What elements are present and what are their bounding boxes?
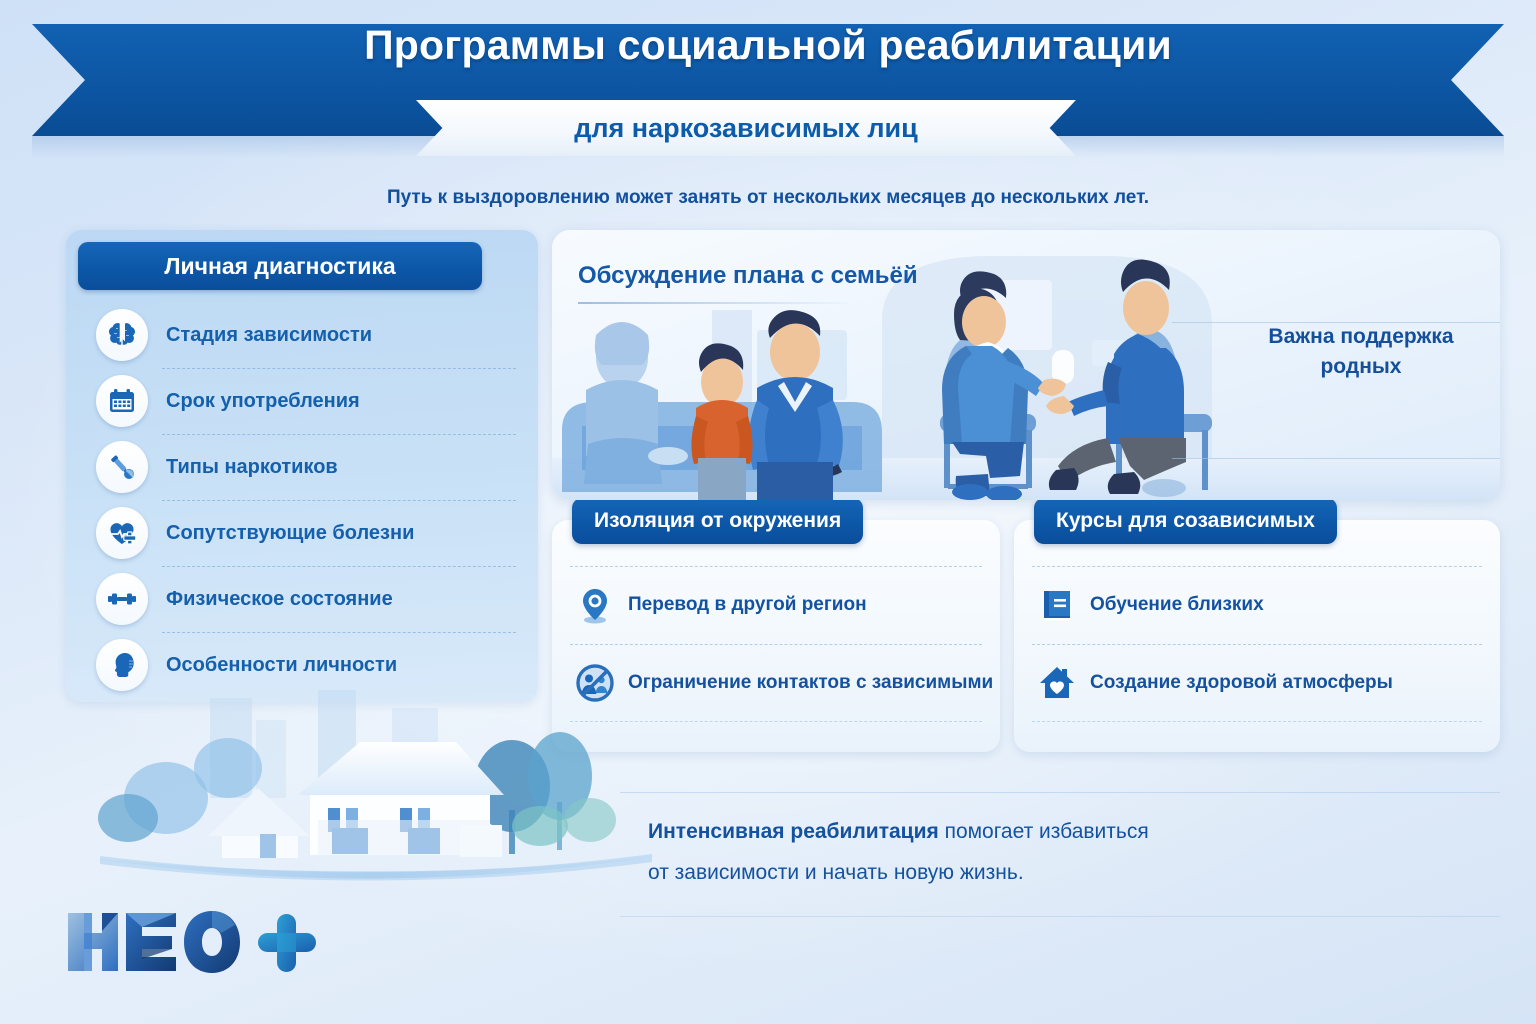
hero-title-underline xyxy=(578,302,848,304)
location-pin-icon xyxy=(574,584,616,626)
book-icon xyxy=(1036,584,1078,626)
closing-divider-top xyxy=(620,792,1500,793)
hero-divider-bottom xyxy=(1172,458,1500,459)
neo-plus-logo[interactable] xyxy=(64,905,324,979)
codependent-courses-card: Курсы для созависимых Обучение близких xyxy=(1014,520,1500,752)
closing-rest: помогает избавиться xyxy=(939,820,1149,843)
diagnostics-list: Стадия зависимости Срок употребления xyxy=(66,302,538,698)
head-profile-icon xyxy=(96,639,148,691)
closing-statement: Интенсивная реабилитация помогает избави… xyxy=(648,812,1348,894)
list-item[interactable]: Типы наркотиков xyxy=(66,434,538,500)
list-item-label: Особенности личности xyxy=(166,654,397,677)
list-item-label: Перевод в другой регион xyxy=(628,594,867,616)
closing-line2: от зависимости и начать новую жизнь. xyxy=(648,853,1348,894)
syringe-pill-icon xyxy=(96,441,148,493)
brain-icon xyxy=(96,309,148,361)
card-header-courses: Курсы для созависимых xyxy=(1034,498,1337,544)
dumbbell-icon xyxy=(96,573,148,625)
list-item-label: Сопутствующие болезни xyxy=(166,522,414,545)
list-item[interactable]: Обучение близких xyxy=(1014,566,1500,644)
panel-header-diagnostics: Личная диагностика xyxy=(78,242,482,290)
list-item[interactable]: Срок употребления xyxy=(66,368,538,434)
hero-title: Обсуждение плана с семьёй xyxy=(578,262,918,290)
calendar-icon xyxy=(96,375,148,427)
closing-divider-bottom xyxy=(620,916,1500,917)
personal-diagnostics-panel: Личная диагностика Стадия зависимости Ср… xyxy=(66,230,538,702)
list-item-label: Стадия зависимости xyxy=(166,324,372,347)
list-item[interactable]: Стадия зависимости xyxy=(66,302,538,368)
courses-list: Обучение близких Создание здоровой атмос… xyxy=(1014,566,1500,722)
list-item[interactable]: Создание здоровой атмосферы xyxy=(1014,644,1500,722)
list-item-label: Обучение близких xyxy=(1090,594,1264,616)
hero-side-note: Важна поддержка родных xyxy=(1246,322,1476,383)
list-item[interactable]: Особенности личности xyxy=(66,632,538,698)
house-illustration xyxy=(60,690,680,920)
list-item-label: Создание здоровой атмосферы xyxy=(1090,672,1393,694)
list-item-label: Ограничение контактов с зависимыми xyxy=(628,672,993,694)
list-item-label: Срок употребления xyxy=(166,390,360,413)
list-item-label: Физическое состояние xyxy=(166,588,393,611)
card-header-isolation: Изоляция от окружения xyxy=(572,498,863,544)
house-heart-icon xyxy=(1036,662,1078,704)
list-item[interactable]: Сопутствующие болезни xyxy=(66,500,538,566)
list-item-label: Типы наркотиков xyxy=(166,456,338,479)
list-item[interactable]: Перевод в другой регион xyxy=(552,566,1000,644)
closing-bold: Интенсивная реабилитация xyxy=(648,820,939,843)
page-subtitle: для наркозависимых лиц xyxy=(416,100,1076,156)
page-title: Программы социальной реабилитации xyxy=(0,22,1536,69)
heart-plus-icon xyxy=(96,507,148,559)
list-item[interactable]: Физическое состояние xyxy=(66,566,538,632)
family-discussion-card: Обсуждение плана с семьёй Важна поддержк… xyxy=(552,230,1500,500)
intro-text: Путь к выздоровлению может занять от нес… xyxy=(0,187,1536,209)
